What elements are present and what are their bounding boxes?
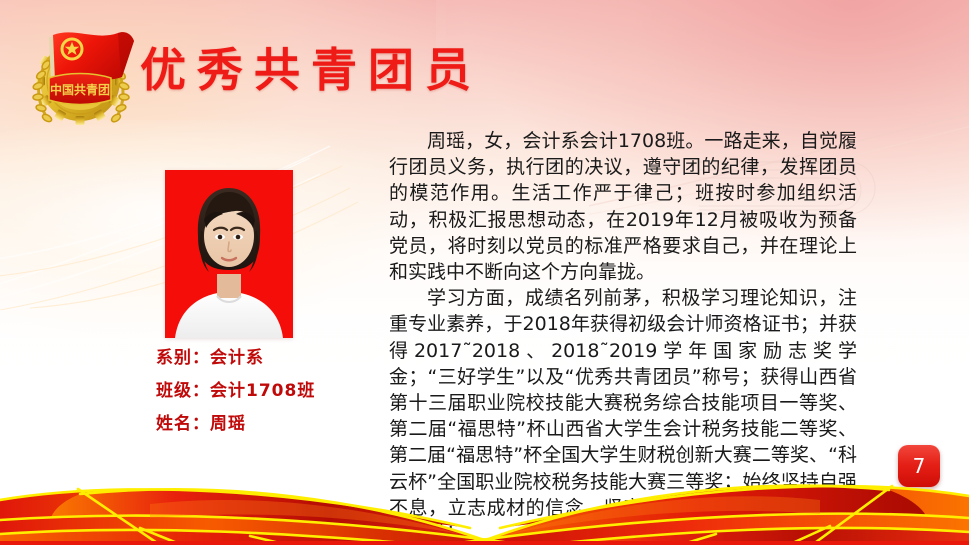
info-row-class: 班级：会计1708班 [156,375,396,408]
presentation-slide: 中国共青团 优秀共青团员 [0,0,969,545]
info-row-department: 系别：会计系 [156,342,396,375]
biography-paragraph-1: 周瑶，女，会计系会计1708班。一路走来，自觉履行团员义务，执行团的决议，遵守团… [389,128,857,285]
page-title: 优秀共青团员 [140,39,482,101]
student-info-block: 系别：会计系 班级：会计1708班 姓名：周瑶 [156,342,396,441]
emblem-banner-text: 中国共青团 [50,82,110,97]
communist-youth-league-emblem-icon: 中国共青团 [22,19,140,131]
info-row-name: 姓名：周瑶 [156,408,396,441]
bottom-ribbon-decoration [0,460,969,545]
student-id-photo [165,170,293,338]
